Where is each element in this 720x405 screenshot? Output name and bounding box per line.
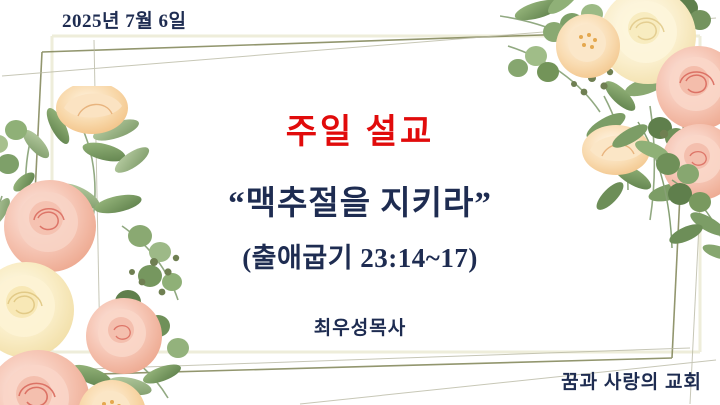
scripture-reference: (출애굽기 23:14~17) (0, 236, 720, 275)
flower-cream-rose (0, 262, 74, 358)
sermon-title: “맥추절을 지키라” (0, 176, 720, 224)
sermon-slide: 2025년 7월 6일 주일 설교 “맥추절을 지키라” (출애굽기 23:14… (0, 0, 720, 405)
flower-peach-topright (556, 14, 620, 78)
flower-pink-rose-bottom (0, 350, 90, 405)
flower-peach-bottom (78, 380, 146, 405)
preacher-name: 최우성목사 (0, 313, 720, 340)
date-text: 2025년 7월 6일 (62, 6, 186, 33)
flower-cream-rose-top (600, 0, 696, 84)
church-name: 꿈과 사랑의 교회 (561, 367, 702, 394)
sermon-label: 주일 설교 (0, 104, 720, 153)
